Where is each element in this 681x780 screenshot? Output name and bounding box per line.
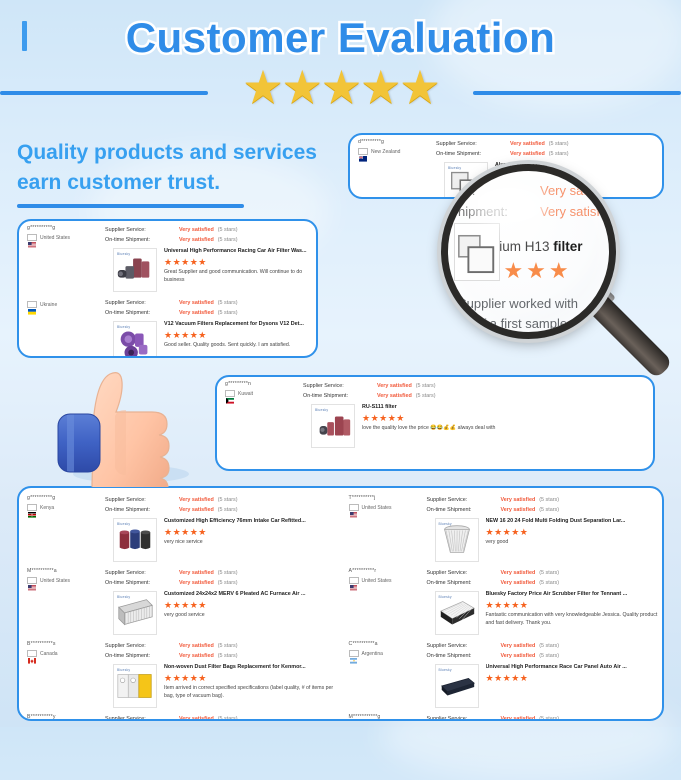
- shipment-value: Very satisfied: [501, 578, 536, 588]
- supplier-service-row: Supplier Service:Very satisfied(5 stars): [105, 568, 341, 578]
- buyer-id: g**********g: [27, 495, 105, 501]
- shipment-label: On-time Shipment:: [436, 149, 510, 159]
- supplier-service-row: Supplier Service:Very satisfied(5 stars): [105, 495, 341, 505]
- magnifier-lens: ce: Very satisfied nipment: Very satisfi…: [441, 164, 616, 339]
- supplier-service-value: Very satisfied: [377, 381, 412, 391]
- buyer-country: Canada: [27, 650, 105, 657]
- shipment-row: On-time Shipment:Very satisfied(5 stars): [427, 651, 663, 661]
- flag-icon: [27, 234, 37, 241]
- tagline-underline: [17, 204, 244, 208]
- ratings-block: Supplier Service:Very satisfied(5 stars)…: [427, 641, 663, 661]
- page-title: Customer Evaluation: [0, 14, 681, 62]
- supplier-service-row: Supplier Service:Very satisfied(5 stars): [105, 641, 341, 651]
- supplier-service-row: Supplier Service:Very satisfied(5 stars): [105, 714, 341, 721]
- shipment-row: On-time Shipment:Very satisfied(5 stars): [105, 235, 316, 245]
- shipment-label: On-time Shipment:: [303, 391, 377, 401]
- product-thumbnail[interactable]: Bluesky: [113, 248, 157, 292]
- supplier-service-count: (5 stars): [218, 714, 238, 721]
- shipment-count: (5 stars): [539, 578, 559, 588]
- shipment-count: (5 stars): [549, 149, 569, 159]
- buyer-info: A**********rUnited States: [341, 568, 427, 588]
- magnified-product-thumbnail: [454, 223, 500, 281]
- ratings-block: Supplier Service:Very satisfied(5 stars)…: [427, 495, 663, 515]
- page-header: Customer Evaluation ★★★★★: [0, 0, 681, 125]
- buyer-country-label: United States: [362, 505, 392, 511]
- supplier-service-value: Very satisfied: [501, 495, 536, 505]
- ratings-block: Supplier Service:Very satisfied(5 stars)…: [105, 568, 341, 588]
- review-item[interactable]: B**********sCanadaSupplier Service:Very …: [19, 637, 341, 710]
- shipment-label: On-time Shipment:: [105, 651, 179, 661]
- buyer-info: M***********gGermany: [341, 714, 427, 721]
- review-comment: Great Supplier and good communication. W…: [164, 269, 316, 285]
- review-stars: ★★★★★: [486, 526, 663, 540]
- buyer-country-label: New Zealand: [371, 149, 400, 155]
- flag-icon: [349, 650, 359, 657]
- review-item[interactable]: T**********jUnited StatesSupplier Servic…: [341, 491, 663, 564]
- shipment-value: Very satisfied: [179, 308, 214, 318]
- buyer-country: Argentina: [349, 650, 427, 657]
- supplier-service-value: Very satisfied: [501, 714, 536, 721]
- supplier-service-label: Supplier Service:: [105, 568, 179, 578]
- magnified-shipment-value: Very satisfied: [540, 202, 616, 223]
- shipment-row: On-time Shipment:Very satisfied(5 stars): [427, 505, 663, 515]
- buyer-country-label: Kenya: [40, 505, 54, 511]
- review-comment: love the quality love the price 😂😂💰💰 alw…: [362, 425, 653, 433]
- supplier-service-label: Supplier Service:: [427, 641, 501, 651]
- review-comment: very good service: [164, 612, 341, 620]
- review-item[interactable]: C**********aArgentinaSupplier Service:Ve…: [341, 637, 663, 710]
- review-comment: Item arrived in correct specified specif…: [164, 685, 341, 701]
- shipment-value: Very satisfied: [179, 505, 214, 515]
- product-title[interactable]: Customized 24x24x2 MERV 6 Pleated AC Fur…: [164, 591, 341, 599]
- buyer-info: g**********gKenya: [19, 495, 105, 515]
- product-artwork: [436, 519, 478, 561]
- grid-column-right: T**********jUnited StatesSupplier Servic…: [341, 491, 663, 721]
- shipment-row: On-time Shipment:Very satisfied(5 stars): [427, 578, 663, 588]
- product-title[interactable]: Non-woven Dust Filter Bags Replacement f…: [164, 664, 341, 672]
- supplier-service-value: Very satisfied: [179, 495, 214, 505]
- buyer-info: B**********sCanada: [19, 641, 105, 661]
- shipment-count: (5 stars): [539, 505, 559, 515]
- shipment-value: Very satisfied: [179, 578, 214, 588]
- buyer-country: United States: [27, 577, 105, 584]
- buyer-info: g*********nKuwait: [217, 381, 303, 401]
- supplier-service-row: Supplier Service:Very satisfied(5 stars): [436, 139, 662, 149]
- supplier-service-value: Very satisfied: [179, 298, 214, 308]
- buyer-country-label: Ukraine: [40, 302, 57, 308]
- review-comment: very nice service: [164, 539, 341, 547]
- supplier-service-count: (5 stars): [549, 139, 569, 149]
- supplier-service-label: Supplier Service:: [427, 714, 501, 721]
- ratings-block: Supplier Service:Very satisfied(5 stars)…: [105, 714, 341, 721]
- buyer-country: United States: [349, 577, 427, 584]
- buyer-id: A**********r: [349, 568, 427, 574]
- product-artwork: [436, 665, 478, 707]
- product-title[interactable]: V12 Vacuum Filters Replacement for Dyson…: [164, 321, 316, 329]
- review-comment: Fantastic communication with very knowle…: [486, 612, 663, 628]
- buyer-id: C**********a: [349, 641, 427, 647]
- supplier-service-label: Supplier Service:: [105, 298, 179, 308]
- shipment-count: (5 stars): [218, 308, 238, 318]
- review-stars: ★★★★★: [164, 329, 316, 343]
- buyer-id: g**********g: [27, 225, 105, 231]
- product-title[interactable]: NEW 16 20 24 Fold Multi Folding Dust Sep…: [486, 518, 663, 526]
- product-thumbnail[interactable]: Bluesky: [435, 664, 479, 708]
- shipment-count: (5 stars): [218, 651, 238, 661]
- buyer-country: Ukraine: [27, 301, 105, 308]
- shipment-label: On-time Shipment:: [427, 505, 501, 515]
- product-title[interactable]: RU-S111 filter: [362, 404, 653, 412]
- magnified-text-line-2: es of a first sample: [458, 314, 609, 334]
- buyer-country: Kenya: [27, 504, 105, 511]
- ratings-block: Supplier Service:Very satisfied(5 stars)…: [105, 225, 316, 245]
- supplier-service-count: (5 stars): [416, 381, 436, 391]
- supplier-service-count: (5 stars): [539, 568, 559, 578]
- review-stars: ★★★★★: [164, 256, 316, 270]
- ratings-block: Supplier Service:Very satisfied(5 stars)…: [427, 714, 663, 721]
- shipment-label: On-time Shipment:: [105, 578, 179, 588]
- buyer-id: M**********a: [27, 568, 105, 574]
- buyer-country: United States: [27, 234, 105, 241]
- shipment-row: On-time Shipment:Very satisfied(5 stars): [105, 651, 341, 661]
- magnified-product-suffix: filter: [553, 239, 582, 254]
- buyer-id: g*********n: [225, 381, 303, 387]
- supplier-service-row: Supplier Service:Very satisfied(5 stars): [427, 568, 663, 578]
- product-thumbnail[interactable]: Bluesky: [113, 518, 157, 562]
- shipment-value: Very satisfied: [179, 651, 214, 661]
- review-item[interactable]: UkraineSupplier Service:Very satisfied(5…: [19, 294, 316, 358]
- buyer-country: United States: [349, 504, 427, 511]
- product-thumbnail[interactable]: Bluesky: [435, 591, 479, 635]
- review-card-kuwait: g*********nKuwaitSupplier Service:Very s…: [215, 375, 655, 471]
- shipment-label: On-time Shipment:: [427, 651, 501, 661]
- supplier-service-label: Supplier Service:: [105, 225, 179, 235]
- ratings-block: Supplier Service:Very satisfied(5 stars)…: [105, 495, 341, 515]
- buyer-id: B**********s: [27, 641, 105, 647]
- magnified-text-line-1: Supplier worked with: [458, 294, 609, 314]
- review-stars: ★★★★★: [164, 599, 341, 613]
- review-item[interactable]: A**********rUnited StatesSupplier Servic…: [341, 564, 663, 637]
- product-artwork: [114, 519, 156, 561]
- review-stars: ★★★★★: [486, 599, 663, 613]
- shipment-value: Very satisfied: [510, 149, 545, 159]
- supplier-service-value: Very satisfied: [501, 641, 536, 651]
- supplier-service-count: (5 stars): [218, 298, 238, 308]
- product-title[interactable]: Universal High Performance Race Car Pane…: [486, 664, 663, 672]
- review-item[interactable]: M***********gGermanySupplier Service:Ver…: [341, 710, 663, 721]
- supplier-service-label: Supplier Service:: [427, 568, 501, 578]
- product-title[interactable]: Customized High Efficiency 76mm Intake C…: [164, 518, 341, 526]
- review-stars: ★★★★★: [164, 526, 341, 540]
- buyer-country-label: Kuwait: [238, 391, 253, 397]
- magnified-service-value: Very satisfied: [540, 181, 616, 202]
- buyer-id: T**********j: [349, 495, 427, 501]
- ratings-block: Supplier Service:Very satisfied(5 stars)…: [105, 298, 316, 318]
- supplier-service-value: Very satisfied: [179, 225, 214, 235]
- supplier-service-label: Supplier Service:: [427, 495, 501, 505]
- product-artwork: [312, 405, 354, 447]
- ratings-block: Supplier Service:Very satisfied(5 stars)…: [105, 641, 341, 661]
- shipment-value: Very satisfied: [377, 391, 412, 401]
- buyer-info: M**********aUnited States: [19, 568, 105, 588]
- product-thumbnail[interactable]: Bluesky: [113, 664, 157, 708]
- tagline: Quality products and services earn custo…: [17, 138, 357, 199]
- ratings-block: Supplier Service:Very satisfied(5 stars)…: [303, 381, 653, 401]
- product-title[interactable]: Universal High Performance Racing Car Ai…: [164, 248, 316, 256]
- tagline-line-1: Quality products and services: [17, 138, 357, 168]
- buyer-country-label: Canada: [40, 651, 58, 657]
- flag-icon: [27, 301, 37, 308]
- shipment-row: On-time Shipment:Very satisfied(5 stars): [303, 391, 653, 401]
- shipment-count: (5 stars): [218, 578, 238, 588]
- buyer-info: d*********gNew Zealand: [350, 139, 436, 159]
- product-artwork: [436, 592, 478, 634]
- supplier-service-count: (5 stars): [539, 714, 559, 721]
- supplier-service-row: Supplier Service:Very satisfied(5 stars): [303, 381, 653, 391]
- supplier-service-value: Very satisfied: [179, 641, 214, 651]
- supplier-service-value: Very satisfied: [179, 568, 214, 578]
- supplier-service-label: Supplier Service:: [105, 495, 179, 505]
- buyer-country: Kuwait: [225, 390, 303, 397]
- supplier-service-count: (5 stars): [218, 568, 238, 578]
- review-comment: very good: [486, 539, 663, 547]
- supplier-service-row: Supplier Service:Very satisfied(5 stars): [427, 714, 663, 721]
- ratings-block: Supplier Service:Very satisfied(5 stars)…: [427, 568, 663, 588]
- shipment-value: Very satisfied: [501, 651, 536, 661]
- product-thumbnail[interactable]: Bluesky: [113, 591, 157, 635]
- buyer-info: C**********aArgentina: [341, 641, 427, 661]
- shipment-count: (5 stars): [218, 505, 238, 515]
- tagline-line-2: earn customer trust.: [17, 168, 357, 198]
- flag-icon: [27, 650, 37, 657]
- magnifier-glare: [471, 184, 548, 226]
- buyer-info: T**********jUnited States: [341, 495, 427, 515]
- buyer-country-label: United States: [40, 578, 70, 584]
- shipment-value: Very satisfied: [501, 505, 536, 515]
- header-stars: ★★★★★: [0, 64, 681, 110]
- review-item[interactable]: g**********gUnited StatesSupplier Servic…: [19, 221, 316, 294]
- shipment-row: On-time Shipment:Very satisfied(5 stars): [105, 578, 341, 588]
- shipment-label: On-time Shipment:: [105, 235, 179, 245]
- product-thumbnail[interactable]: Bluesky: [435, 518, 479, 562]
- shipment-label: On-time Shipment:: [427, 578, 501, 588]
- product-artwork: [114, 665, 156, 707]
- buyer-country-label: Argentina: [362, 651, 383, 657]
- thumbs-up-icon: [36, 362, 211, 487]
- shipment-count: (5 stars): [539, 651, 559, 661]
- flag-icon: [349, 577, 359, 584]
- product-artwork: [114, 322, 156, 358]
- supplier-service-label: Supplier Service:: [105, 714, 179, 721]
- supplier-service-label: Supplier Service:: [436, 139, 510, 149]
- product-artwork: [114, 249, 156, 291]
- supplier-service-row: Supplier Service:Very satisfied(5 stars): [105, 298, 316, 308]
- review-item[interactable]: g**********gKenyaSupplier Service:Very s…: [19, 491, 341, 564]
- shipment-value: Very satisfied: [179, 235, 214, 245]
- review-item[interactable]: M**********aUnited StatesSupplier Servic…: [19, 564, 341, 637]
- buyer-id: d*********g: [358, 139, 436, 145]
- flag-icon: [27, 577, 37, 584]
- supplier-service-count: (5 stars): [218, 225, 238, 235]
- supplier-service-row: Supplier Service:Very satisfied(5 stars): [105, 225, 316, 235]
- flag-icon: [225, 390, 235, 397]
- review-item[interactable]: B**********yUnited StatesSupplier Servic…: [19, 710, 341, 721]
- review-card-top-left: g**********gUnited StatesSupplier Servic…: [17, 219, 318, 358]
- shipment-count: (5 stars): [416, 391, 436, 401]
- product-artwork: [114, 592, 156, 634]
- shipment-label: On-time Shipment:: [105, 308, 179, 318]
- flag-icon: [349, 504, 359, 511]
- supplier-service-row: Supplier Service:Very satisfied(5 stars): [427, 495, 663, 505]
- shipment-row: On-time Shipment:Very satisfied(5 stars): [105, 308, 316, 318]
- supplier-service-value: Very satisfied: [179, 714, 214, 721]
- buyer-id: B**********y: [27, 714, 105, 720]
- shipment-row: On-time Shipment:Very satisfied(5 stars): [436, 149, 662, 159]
- product-thumbnail[interactable]: Bluesky: [311, 404, 355, 448]
- review-card-grid: g**********gKenyaSupplier Service:Very s…: [17, 486, 664, 721]
- ratings-block: Supplier Service:Very satisfied(5 stars)…: [436, 139, 662, 159]
- supplier-service-label: Supplier Service:: [105, 641, 179, 651]
- flag-icon: [358, 148, 368, 155]
- supplier-service-count: (5 stars): [218, 641, 238, 651]
- supplier-service-count: (5 stars): [539, 495, 559, 505]
- supplier-service-value: Very satisfied: [510, 139, 545, 149]
- supplier-service-count: (5 stars): [539, 641, 559, 651]
- shipment-count: (5 stars): [218, 235, 238, 245]
- magnifier: ce: Very satisfied nipment: Very satisfi…: [441, 164, 616, 339]
- review-comment: Good seller. Quality goods. Sent quickly…: [164, 342, 316, 350]
- supplier-service-count: (5 stars): [218, 495, 238, 505]
- shipment-label: On-time Shipment:: [105, 505, 179, 515]
- buyer-id: M***********g: [349, 714, 427, 720]
- supplier-service-row: Supplier Service:Very satisfied(5 stars): [427, 641, 663, 651]
- product-title[interactable]: Bluesky Factory Price Air Scrubber Filte…: [486, 591, 663, 599]
- product-thumbnail[interactable]: Bluesky: [113, 321, 157, 358]
- shipment-row: On-time Shipment:Very satisfied(5 stars): [105, 505, 341, 515]
- supplier-service-label: Supplier Service:: [303, 381, 377, 391]
- buyer-country: New Zealand: [358, 148, 436, 155]
- buyer-info: Ukraine: [19, 298, 105, 318]
- review-stars: ★★★★★: [164, 672, 341, 686]
- flag-icon: [27, 504, 37, 511]
- review-stars: ★★★★★: [486, 672, 663, 686]
- review-stars: ★★★★★: [362, 412, 653, 426]
- buyer-country-label: United States: [40, 235, 70, 241]
- grid-column-left: g**********gKenyaSupplier Service:Very s…: [19, 491, 341, 721]
- supplier-service-value: Very satisfied: [501, 568, 536, 578]
- buyer-info: g**********gUnited States: [19, 225, 105, 245]
- buyer-country-label: United States: [362, 578, 392, 584]
- review-item[interactable]: g*********nKuwaitSupplier Service:Very s…: [217, 377, 653, 450]
- buyer-info: B**********yUnited States: [19, 714, 105, 721]
